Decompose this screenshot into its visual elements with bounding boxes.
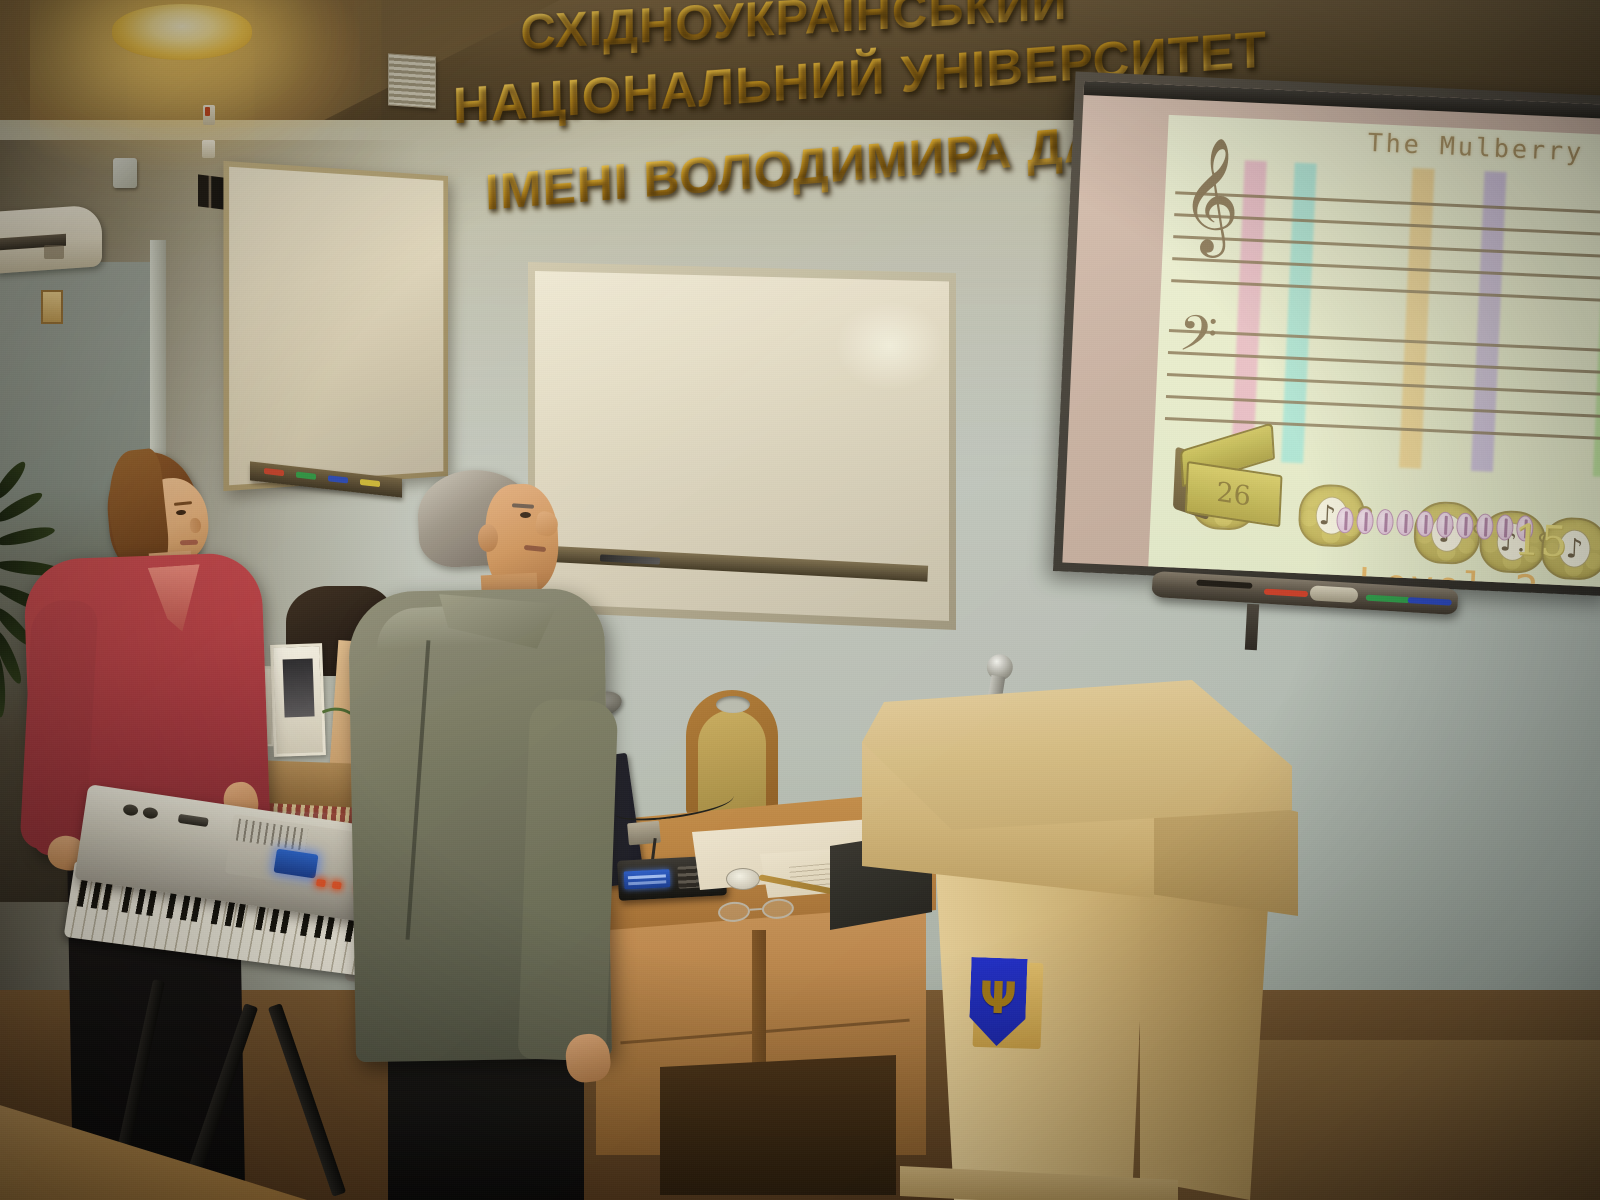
color-column-5: [1593, 177, 1600, 478]
color-column-2: [1281, 163, 1317, 464]
token-pip: [1376, 509, 1394, 536]
plant-frond: [0, 488, 45, 526]
whiteboard-small-frame: [223, 161, 448, 491]
music-game-canvas[interactable]: The Mulberry Bush 𝄞 𝄢 ♩ 𝅝♪.♪♪.♪ 26 15 Le…: [1148, 115, 1600, 587]
staff-line-treble-4: [1172, 257, 1600, 282]
receiver-controls[interactable]: [677, 866, 700, 889]
pen-icon-1[interactable]: [1264, 589, 1308, 598]
whiteboard-small-surface[interactable]: [229, 167, 443, 486]
small-device-block[interactable]: [627, 821, 661, 846]
whiteboard-pen-4[interactable]: [360, 479, 380, 487]
music-staff: 𝄞 𝄢 ♩: [1153, 157, 1600, 479]
podium-column: [936, 870, 1146, 1200]
interactive-whiteboard-small[interactable]: [223, 161, 448, 491]
ventilation-grille-icon: [388, 53, 436, 108]
keyboard-led-a: [316, 879, 326, 887]
interactive-whiteboard-projection[interactable]: The Mulberry Bush 𝄞 𝄢 ♩ 𝅝♪.♪♪.♪ 26 15 Le…: [1053, 72, 1600, 597]
tape-roll[interactable]: [726, 868, 760, 890]
staff-line-bass-2: [1168, 351, 1600, 376]
tryzub-glyph: Ψ: [979, 976, 1018, 1021]
keyboard-slider[interactable]: [178, 814, 209, 827]
keyboard-knob-a[interactable]: [122, 804, 138, 817]
plant-frond: [0, 524, 56, 549]
lectern-podium[interactable]: Ψ: [862, 680, 1292, 1200]
woman-mouth: [180, 540, 198, 546]
color-column-3: [1399, 168, 1435, 469]
projection-surface[interactable]: The Mulberry Bush 𝄞 𝄢 ♩ 𝅝♪.♪♪.♪ 26 15 Le…: [1062, 81, 1600, 587]
whiteboard-pen-2[interactable]: [296, 472, 316, 480]
desk-under-shadow: [660, 1055, 896, 1195]
pen-icon-2[interactable]: [1366, 595, 1410, 604]
wall-switch-icon: [202, 140, 215, 158]
whiteboard-pen-1[interactable]: [264, 468, 284, 476]
token-pip: [1396, 510, 1414, 537]
song-title: The Mulberry Bush: [1367, 128, 1600, 171]
score-value: 15: [1513, 515, 1569, 566]
whiteboard-pen-3[interactable]: [328, 475, 348, 483]
token-pip: [1436, 511, 1454, 538]
glasses-bridge: [750, 908, 762, 911]
color-column-4: [1471, 171, 1507, 472]
wall-bracket-icon: [198, 174, 224, 209]
token-pip: [1416, 510, 1434, 537]
glasses-right-lens: [761, 898, 794, 920]
staff-line-bass-3: [1167, 373, 1600, 398]
staff-line-treble-5: [1171, 279, 1600, 304]
chair-handle-cutout: [716, 696, 750, 713]
token-pip: [1356, 508, 1374, 535]
man-ear: [478, 524, 498, 552]
emergency-sensor-icon: [203, 105, 215, 125]
token-pip: [1476, 513, 1494, 540]
air-conditioner-badge: [44, 245, 64, 259]
eraser-icon[interactable]: [1310, 585, 1359, 603]
door-sign: [41, 290, 63, 324]
man-arm: [518, 699, 619, 1062]
classroom-photo-scene: СХІДНОУКРАЇНСЬКИЙ НАЦІОНАЛЬНИЙ УНІВЕРСИТ…: [0, 0, 1600, 1200]
token-pip: [1456, 512, 1474, 539]
smartboard-wall-mount: [1245, 604, 1259, 651]
staff-line-bass-4: [1166, 395, 1600, 420]
token-pip: [1496, 514, 1514, 541]
receiver-lcd-display: [624, 869, 671, 889]
podium-column-right: [1140, 880, 1268, 1200]
staff-line-bass-1: [1169, 329, 1600, 354]
pen-slot-icon[interactable]: [1196, 580, 1252, 589]
token-pip: [1336, 507, 1354, 534]
ceiling-light-fixture: [112, 4, 252, 60]
wall-speaker-icon: [113, 158, 137, 188]
pen-icon-3[interactable]: [1408, 597, 1452, 606]
keyboard-knob-b[interactable]: [142, 806, 158, 819]
glasses-left-lens: [717, 901, 750, 923]
keyboard-led-b: [332, 881, 342, 889]
whiteboard-glare: [835, 301, 945, 391]
treasure-chest[interactable]: 26: [1173, 433, 1285, 522]
projection-frame: The Mulberry Bush 𝄞 𝄢 ♩ 𝅝♪.♪♪.♪ 26 15 Le…: [1053, 72, 1600, 597]
bass-clef-icon: 𝄢: [1177, 310, 1218, 372]
man-eye: [520, 512, 531, 518]
